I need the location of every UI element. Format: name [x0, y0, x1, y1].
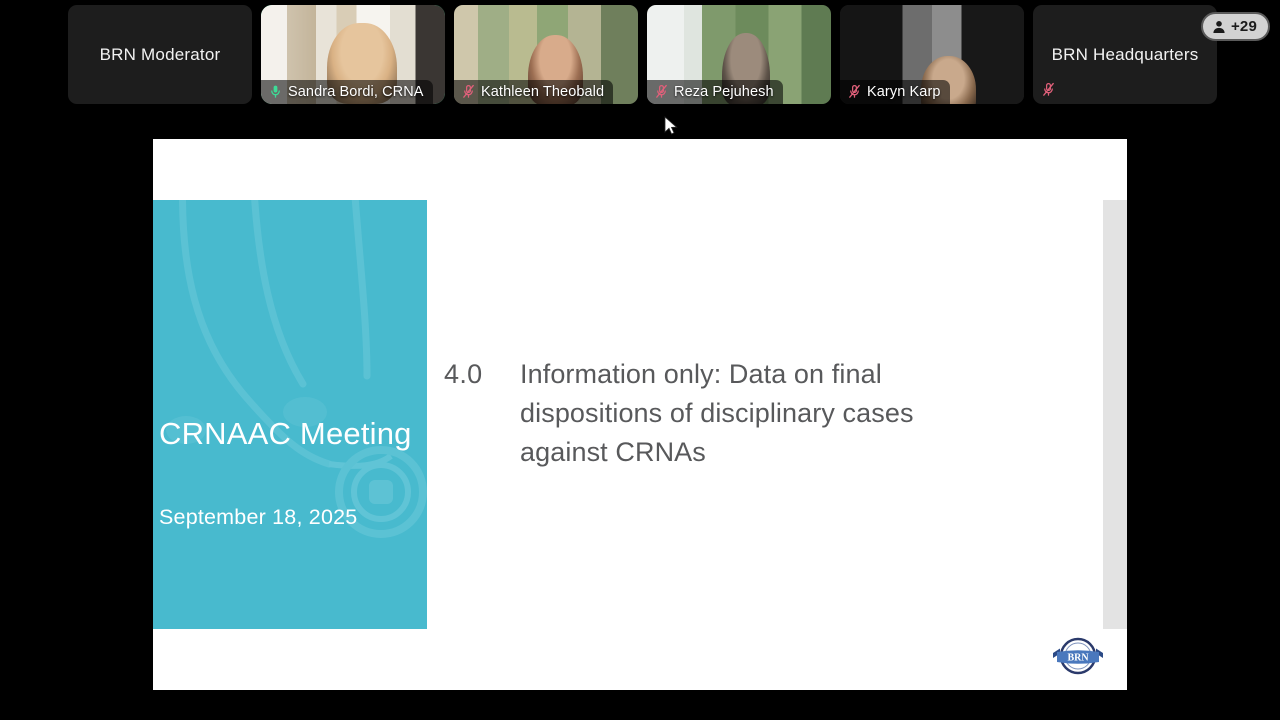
participant-tile-brn-headquarters[interactable]: BRN Headquarters: [1033, 5, 1217, 104]
microphone-muted-icon: [654, 83, 669, 100]
participant-name-bar: Reza Pejuhesh: [647, 80, 783, 104]
participant-name-label: BRN Moderator: [68, 5, 252, 104]
participant-name-label: BRN Headquarters: [1033, 5, 1217, 104]
participant-name-label: Sandra Bordi, CRNA: [288, 84, 424, 100]
slide-deck-date: September 18, 2025: [159, 505, 427, 530]
microphone-muted-icon: [1041, 81, 1056, 98]
shared-slide: CRNAAC Meeting September 18, 2025 4.0 In…: [153, 139, 1127, 690]
participant-name-bar: Sandra Bordi, CRNA: [261, 80, 433, 104]
participant-tile-brn-moderator[interactable]: BRN Moderator: [68, 5, 252, 104]
participant-count-badge[interactable]: +29: [1201, 12, 1270, 41]
participant-count-label: +29: [1231, 18, 1257, 35]
participant-name-label: Kathleen Theobald: [481, 84, 604, 100]
brn-logo-text: BRN: [1067, 653, 1089, 664]
microphone-muted-icon: [847, 83, 862, 100]
participant-tile-sandra-bordi[interactable]: Sandra Bordi, CRNA: [261, 5, 445, 104]
participant-filmstrip: BRN Moderator Sandra Bordi, CRNA: [0, 0, 1280, 110]
mouse-cursor: [664, 116, 678, 136]
agenda-item-number: 4.0: [444, 355, 520, 472]
participant-name-bar: Karyn Karp: [840, 80, 950, 104]
microphone-muted-icon: [461, 83, 476, 100]
participant-tile-kathleen-theobald[interactable]: Kathleen Theobald: [454, 5, 638, 104]
agenda-item-text: Information only: Data on final disposit…: [520, 355, 1004, 472]
participant-name-label: Karyn Karp: [867, 84, 941, 100]
microphone-on-icon: [268, 83, 283, 100]
participant-name-label: Reza Pejuhesh: [674, 84, 774, 100]
participant-tile-karyn-karp[interactable]: Karyn Karp: [840, 5, 1024, 104]
brn-logo: BRN: [1045, 636, 1111, 678]
zoom-screen-share-window: BRN Moderator Sandra Bordi, CRNA: [0, 0, 1280, 720]
slide-side-strip: [1103, 200, 1127, 629]
slide-title-panel: CRNAAC Meeting September 18, 2025: [153, 200, 427, 629]
person-icon: [1211, 19, 1227, 35]
participant-tile-reza-pejuhesh[interactable]: Reza Pejuhesh: [647, 5, 831, 104]
agenda-item: 4.0 Information only: Data on final disp…: [444, 355, 1004, 472]
slide-deck-title: CRNAAC Meeting: [159, 414, 427, 453]
participant-name-bar: Kathleen Theobald: [454, 80, 613, 104]
